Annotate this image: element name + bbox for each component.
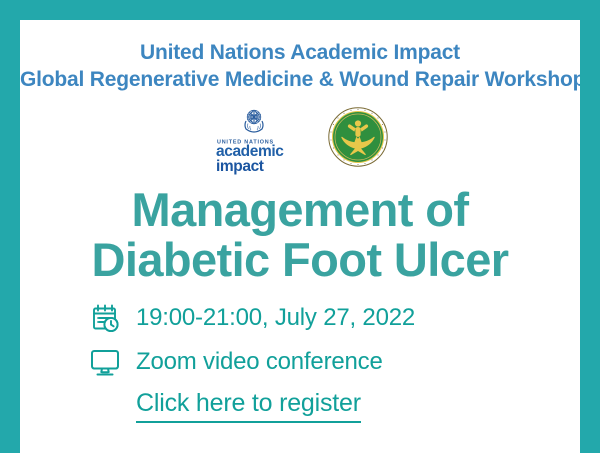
poster-header: United Nations Academic Impact Global Re… [20,20,580,94]
title-line-2: Diabetic Foot Ulcer [20,235,580,285]
detail-row-datetime: 19:00-21:00, July 27, 2022 [88,299,580,337]
green-circular-emblem-icon [327,106,389,173]
register-link[interactable]: Click here to register [136,389,361,423]
monitor-icon [88,345,122,379]
title-line-1: Management of [20,185,580,235]
logo-row: UNITED NATIONS academic impact [20,107,580,173]
un-academic-impact-word-impact: impact [216,159,264,174]
un-academic-impact-word-academic: academic [216,144,283,159]
detail-row-platform: Zoom video conference [88,343,580,381]
un-academic-impact-caption: UNITED NATIONS [217,138,274,144]
detail-platform-text: Zoom video conference [136,348,383,376]
poster-inner: United Nations Academic Impact Global Re… [20,20,580,453]
page-title: Management of Diabetic Foot Ulcer [20,185,580,286]
header-workshop-line: Global Regenerative Medicine & Wound Rep… [20,67,580,94]
header-organization-line: United Nations Academic Impact [20,40,580,67]
un-emblem-icon [239,106,269,138]
calendar-clock-icon [88,301,122,335]
un-academic-impact-logo: UNITED NATIONS academic impact [211,106,297,174]
detail-row-register: Click here to register [88,387,580,425]
event-poster: United Nations Academic Impact Global Re… [0,0,600,453]
detail-datetime-text: 19:00-21:00, July 27, 2022 [136,304,415,332]
event-details: 19:00-21:00, July 27, 2022 Zoom video co… [20,299,580,425]
